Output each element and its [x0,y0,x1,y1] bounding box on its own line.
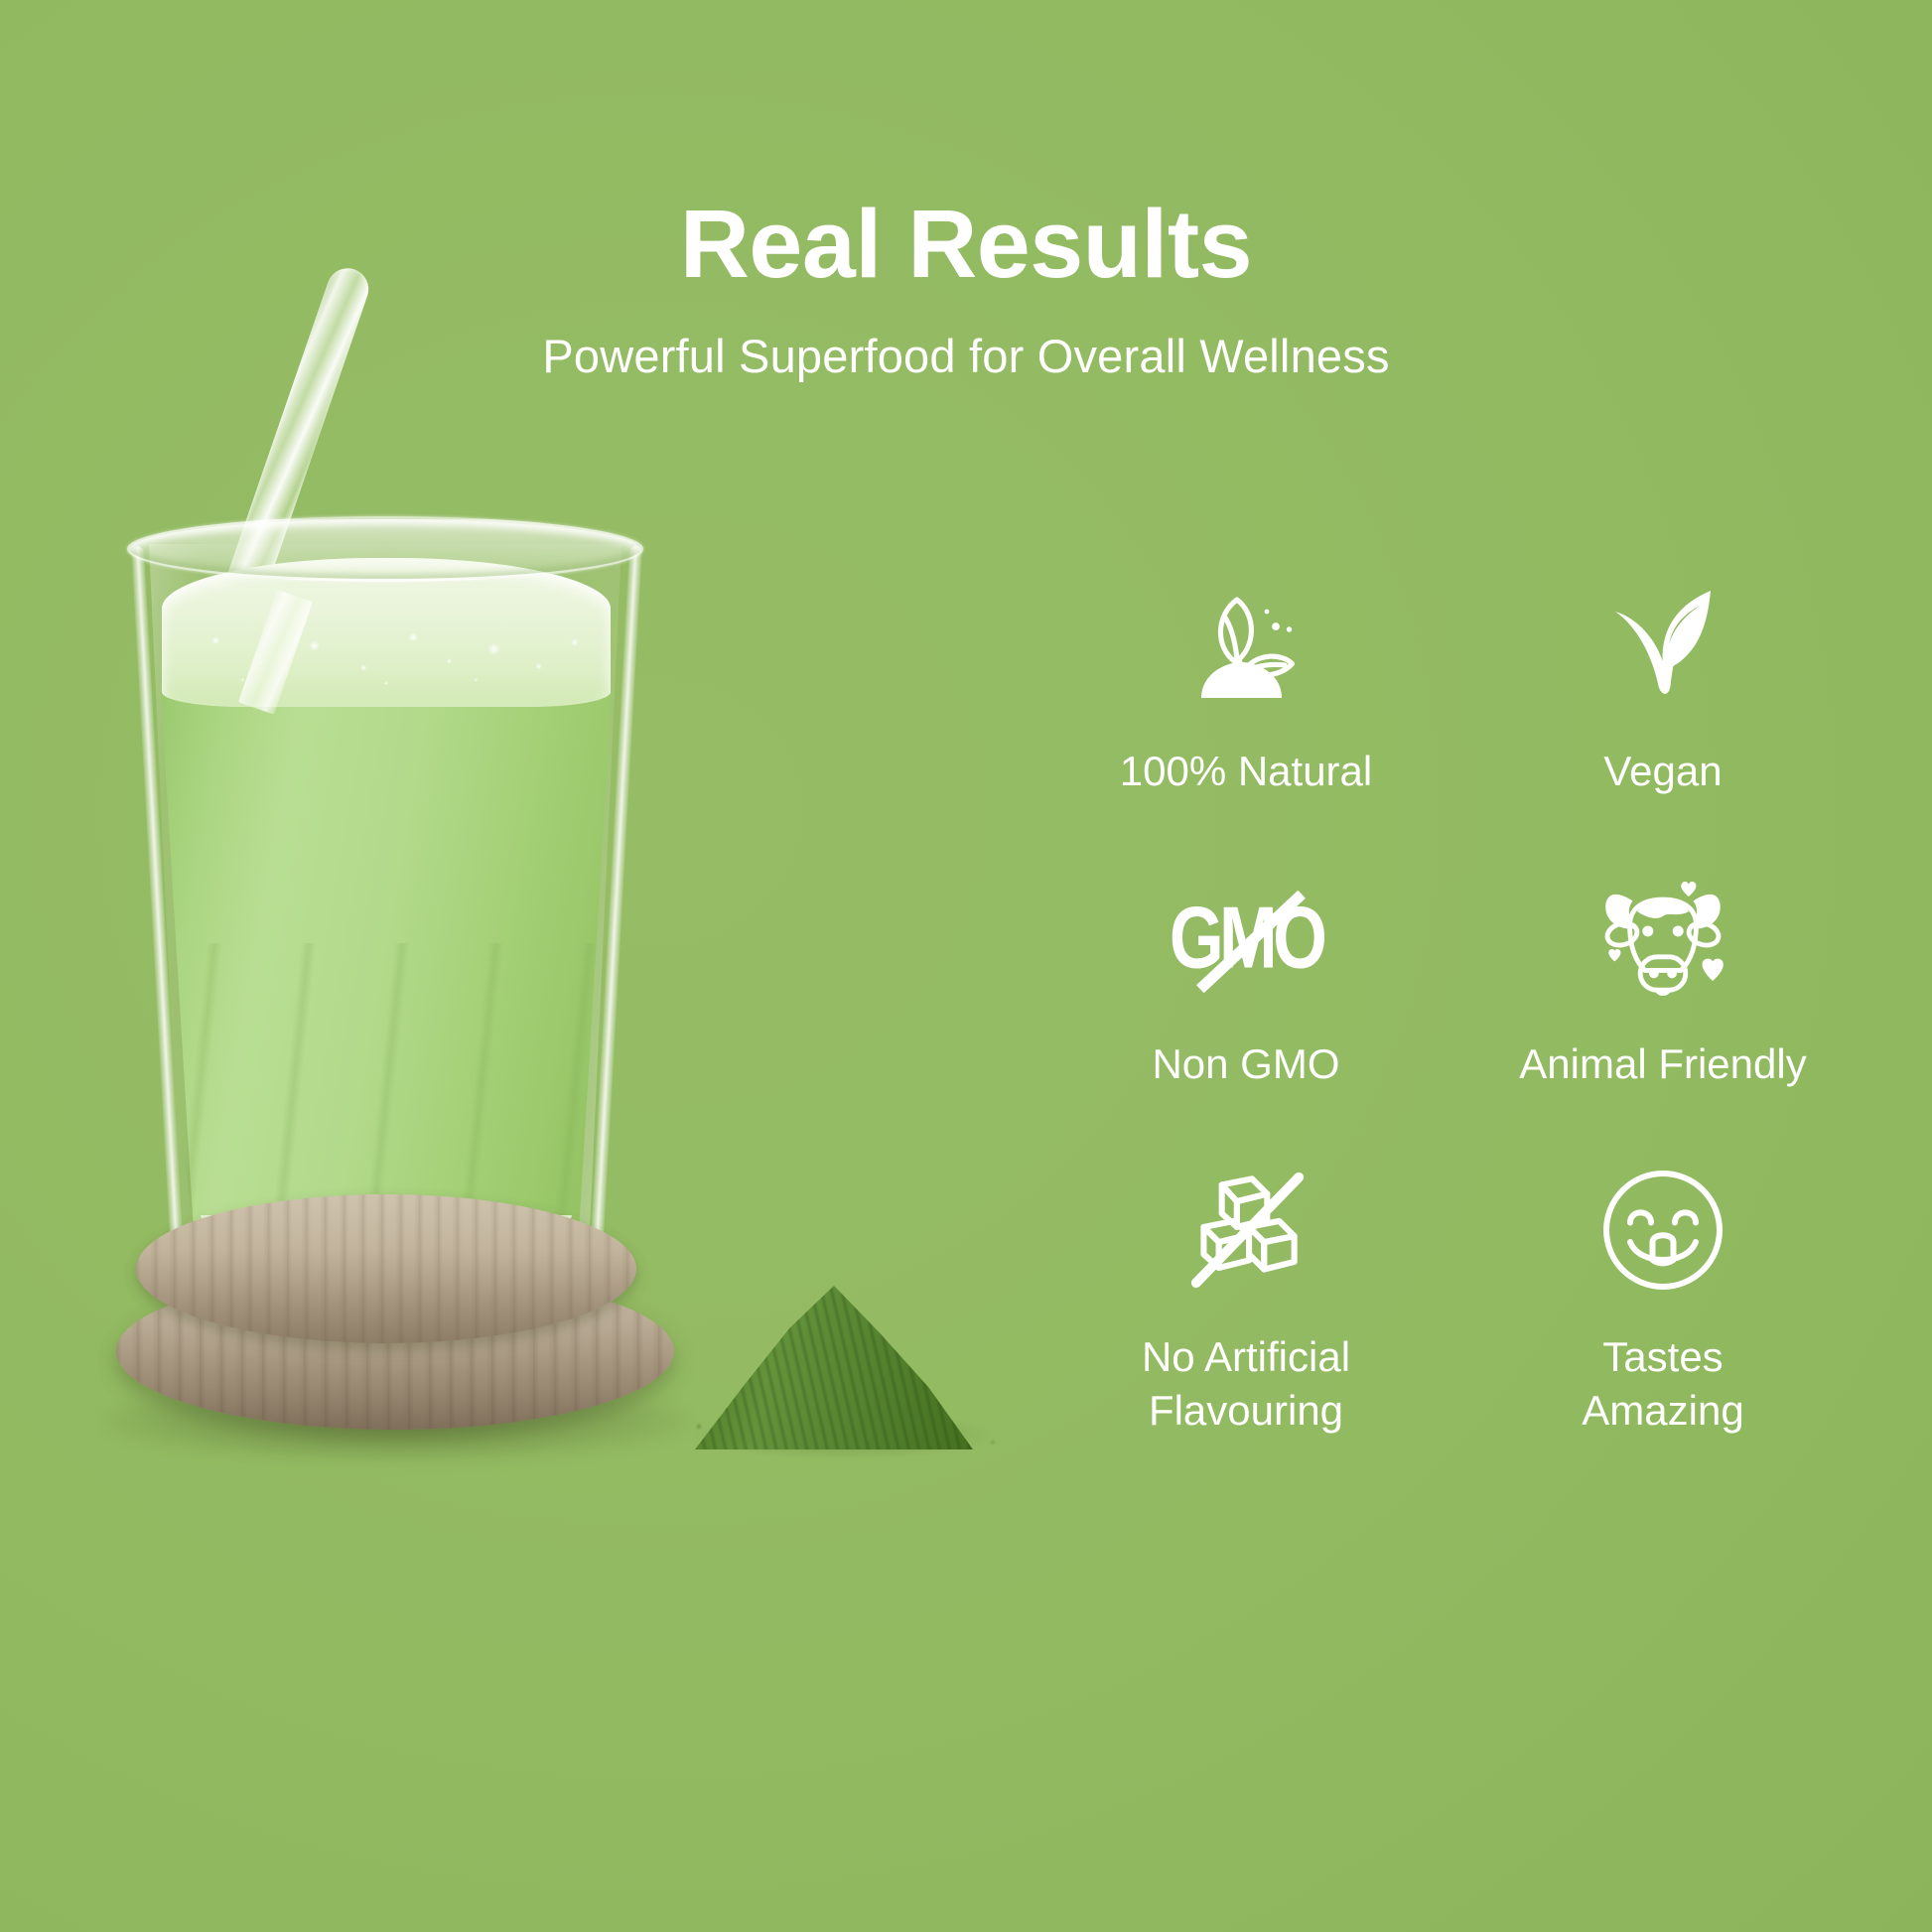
feature-label: Animal Friendly [1519,1037,1806,1091]
feature-label: No Artificial Flavouring [1142,1330,1350,1438]
no-sugar-cubes-icon [1168,1152,1324,1309]
feature-grid: 100% Natural Vegan GMO Non GMO [1042,566,1866,1445]
feature-label: Non GMO [1152,1037,1339,1091]
feature-item-no-artificial-flavouring[interactable]: No Artificial Flavouring [1042,1152,1449,1445]
vegan-leaf-icon [1585,566,1741,723]
wood-slice-icon [136,1194,636,1343]
smoothie-glass [127,516,643,1251]
no-gmo-icon: GMO [1168,859,1324,1016]
smiley-tongue-icon [1585,1152,1741,1309]
cow-face-icon [1585,859,1741,1016]
feature-item-tastes-amazing[interactable]: Tastes Amazing [1459,1152,1866,1445]
feature-label: Vegan [1603,745,1722,798]
sprout-icon [1168,566,1324,723]
feature-label: 100% Natural [1120,745,1372,798]
feature-item-animal-friendly[interactable]: Animal Friendly [1459,859,1866,1152]
feature-item-natural[interactable]: 100% Natural [1042,566,1449,859]
green-powder-pile-icon [695,1286,973,1449]
glass-rim [127,516,643,582]
foam-bubbles [162,612,611,697]
feature-item-non-gmo[interactable]: GMO Non GMO [1042,859,1449,1152]
feature-item-vegan[interactable]: Vegan [1459,566,1866,859]
marketing-banner: Real Results Powerful Superfood for Over… [0,0,1932,1932]
feature-label: Tastes Amazing [1582,1330,1743,1438]
product-photo [0,0,1052,1932]
